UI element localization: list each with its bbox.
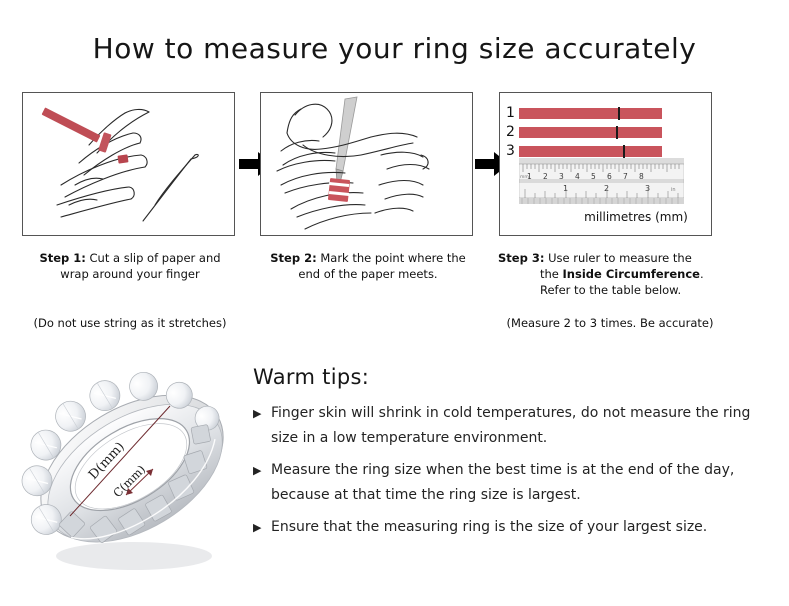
step-3-text-line3: Refer to the table below. <box>540 283 681 297</box>
svg-text:2: 2 <box>543 172 548 181</box>
step-2-text-line2: end of the paper meets. <box>298 267 437 281</box>
step-1-label: Step 1: <box>39 251 85 265</box>
paper-strip-bar-1 <box>519 108 662 119</box>
pen-icon <box>336 97 357 183</box>
measured-strip-row-1: 1 <box>506 105 662 121</box>
warm-tip-text: Finger skin will shrink in cold temperat… <box>271 405 750 446</box>
step-1-illustration-panel <box>22 92 235 236</box>
step-3-inside-circumference-emphasis: Inside Circumference <box>563 267 700 281</box>
strip-number-3: 3 <box>506 143 519 159</box>
ring-illustration-icon: D(mm) C(mm) <box>18 356 246 592</box>
strip-number-2: 2 <box>506 124 519 140</box>
warm-tip-item: ▶ Ensure that the measuring ring is the … <box>253 515 773 540</box>
step-3-illustration-panel: 1 2 3 <box>499 92 712 236</box>
steps-row: 1 2 3 <box>22 92 712 238</box>
svg-text:2: 2 <box>604 184 609 193</box>
strip-mark-3 <box>623 145 625 158</box>
svg-text:6: 6 <box>607 172 612 181</box>
paper-strip-bar-3 <box>519 146 662 157</box>
page-title: How to measure your ring size accurately <box>0 32 789 65</box>
step-1-note: (Do not use string as it stretches) <box>14 316 246 330</box>
svg-text:5: 5 <box>591 172 596 181</box>
step-1-text-line1: Cut a slip of paper and <box>90 251 221 265</box>
svg-text:1: 1 <box>563 184 568 193</box>
svg-text:4: 4 <box>575 172 580 181</box>
paper-strip-bar-2 <box>519 127 662 138</box>
step-3-caption: Step 3: Use ruler to measure the the Ins… <box>492 250 726 298</box>
measured-strip-row-3: 3 <box>506 143 662 159</box>
svg-text:3: 3 <box>559 172 564 181</box>
step-1-text-line2: wrap around your finger <box>60 267 199 281</box>
measured-strip-row-2: 2 <box>506 124 662 140</box>
step-3-label: Step 3: <box>498 251 544 265</box>
svg-text:8: 8 <box>639 172 644 181</box>
svg-text:mm: mm <box>520 175 529 180</box>
warm-tip-item: ▶ Measure the ring size when the best ti… <box>253 458 773 508</box>
step-3-text-line1: Use ruler to measure the <box>548 251 692 265</box>
millimetres-label: millimetres (mm) <box>566 210 706 224</box>
ruler-icon: 123 456 78 mm 123 in <box>519 158 684 204</box>
bullet-triangle-icon: ▶ <box>253 401 261 426</box>
warm-tip-item: ▶ Finger skin will shrink in cold temper… <box>253 401 773 451</box>
step-3-note: (Measure 2 to 3 times. Be accurate) <box>490 316 730 330</box>
strip-mark-1 <box>618 107 620 120</box>
step-1-caption: Step 1: Cut a slip of paper and wrap aro… <box>14 250 246 282</box>
strip-mark-2 <box>616 126 618 139</box>
ring-diagram: D(mm) C(mm) <box>18 356 246 592</box>
paper-strip-marked <box>328 178 350 202</box>
strip-number-1: 1 <box>506 105 519 121</box>
step-3-text-line2-prefix: the <box>540 267 563 281</box>
step-2-illustration-panel <box>260 92 473 236</box>
svg-text:3: 3 <box>645 184 650 193</box>
svg-text:in: in <box>671 187 676 193</box>
step-2-caption: Step 2: Mark the point where the end of … <box>252 250 484 282</box>
hand-marking-paper-icon <box>261 93 472 235</box>
bullet-triangle-icon: ▶ <box>253 458 261 483</box>
warm-tips-heading: Warm tips: <box>253 365 773 389</box>
step-2-label: Step 2: <box>270 251 316 265</box>
warm-tip-text: Measure the ring size when the best time… <box>271 462 734 503</box>
warm-tip-text: Ensure that the measuring ring is the si… <box>271 519 707 535</box>
warm-tips-section: Warm tips: ▶ Finger skin will shrink in … <box>253 365 773 547</box>
step-2-text-line1: Mark the point where the <box>320 251 465 265</box>
step-3-text-line2-suffix: . <box>700 267 704 281</box>
hand-with-paper-strip-icon <box>23 93 234 235</box>
svg-text:7: 7 <box>623 172 628 181</box>
bullet-triangle-icon: ▶ <box>253 515 261 540</box>
